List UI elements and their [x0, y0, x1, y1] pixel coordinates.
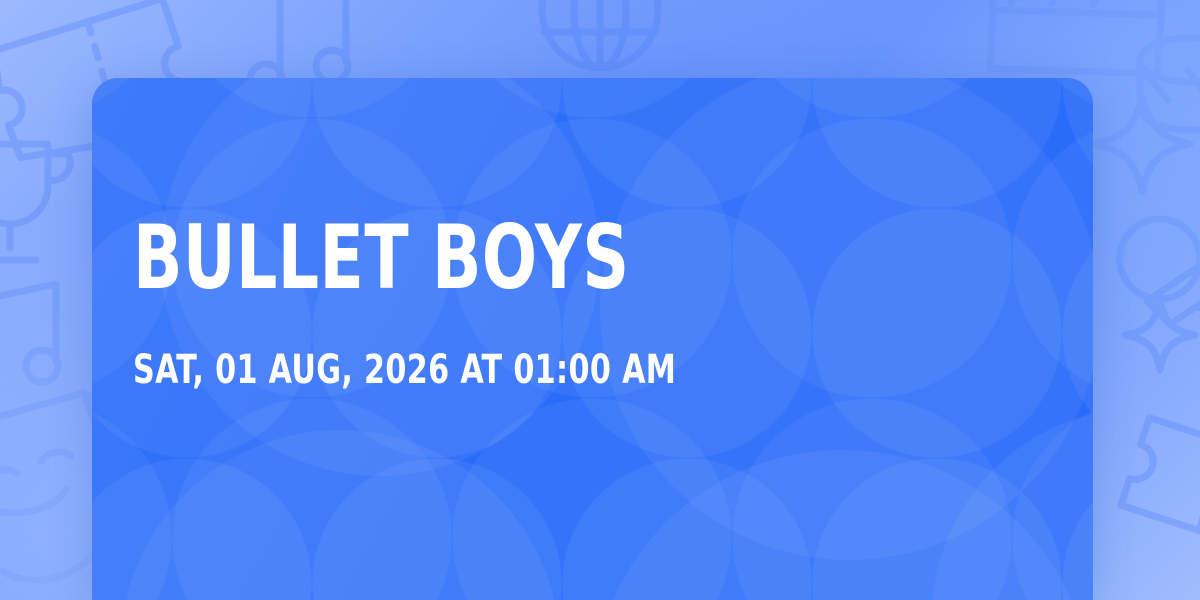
event-banner-stage: BULLET BOYS SAT, 01 AUG, 2026 AT 01:00 A… — [0, 0, 1200, 600]
ticket-icon — [1121, 418, 1200, 555]
music-note-icon — [0, 284, 58, 396]
trophy-icon — [0, 144, 70, 260]
globe-icon — [542, 0, 658, 68]
event-card-content: BULLET BOYS SAT, 01 AUG, 2026 AT 01:00 A… — [133, 78, 1053, 600]
event-datetime: SAT, 01 AUG, 2026 AT 01:00 AM — [133, 350, 676, 390]
event-title: BULLET BOYS — [133, 214, 629, 302]
event-card[interactable]: BULLET BOYS SAT, 01 AUG, 2026 AT 01:00 A… — [92, 78, 1093, 600]
